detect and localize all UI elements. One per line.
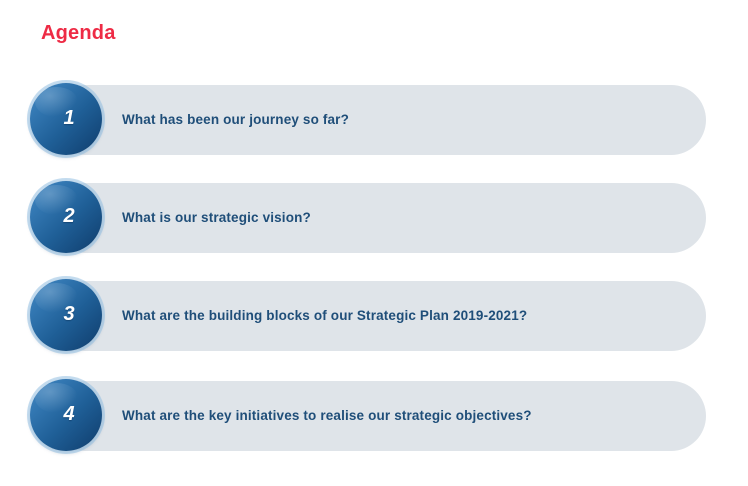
agenda-item-3[interactable]: 3 What are the building blocks of our St…	[30, 279, 706, 351]
agenda-number-badge: 4	[30, 379, 102, 451]
agenda-item-label: What has been our journey so far?	[122, 83, 349, 155]
agenda-item-4[interactable]: 4 What are the key initiatives to realis…	[30, 379, 706, 451]
agenda-item-2[interactable]: 2 What is our strategic vision?	[30, 181, 706, 253]
agenda-number-badge: 2	[30, 181, 102, 253]
agenda-item-label: What is our strategic vision?	[122, 181, 311, 253]
agenda-number-label: 1	[63, 108, 74, 128]
agenda-number-label: 2	[63, 206, 74, 226]
agenda-number-badge: 3	[30, 279, 102, 351]
agenda-item-label: What are the building blocks of our Stra…	[122, 279, 527, 351]
agenda-slide: Agenda 1 What has been our journey so fa…	[0, 0, 748, 486]
agenda-item-1[interactable]: 1 What has been our journey so far?	[30, 83, 706, 155]
agenda-number-label: 4	[63, 404, 74, 424]
agenda-list: 1 What has been our journey so far? 2 Wh…	[0, 0, 748, 486]
agenda-item-label: What are the key initiatives to realise …	[122, 379, 532, 451]
agenda-number-label: 3	[63, 304, 74, 324]
agenda-number-badge: 1	[30, 83, 102, 155]
